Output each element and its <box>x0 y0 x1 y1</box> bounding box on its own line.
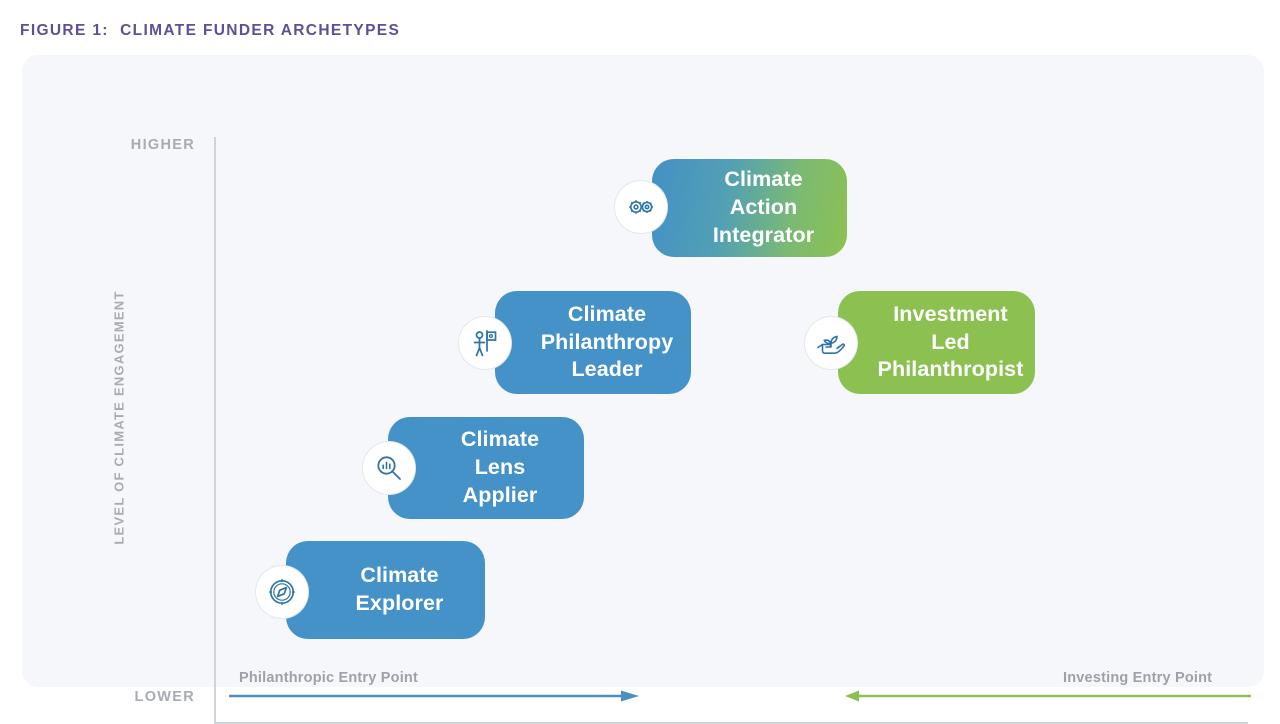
archetype-label: Climate Lens Applier <box>461 426 539 509</box>
archetype-card-investment-led-philanthropist[interactable]: Investment Led Philanthropist <box>838 291 1035 394</box>
philanthropic-entry-label: Philanthropic Entry Point <box>239 670 418 686</box>
person-with-flag-icon <box>459 317 511 369</box>
archetype-card-climate-lens-applier[interactable]: Climate Lens Applier <box>388 417 584 519</box>
y-axis-low-label: LOWER <box>75 689 195 705</box>
archetype-label: Investment Led Philanthropist <box>878 301 1024 384</box>
figure-panel: HIGHER LOWER LEVEL OF CLIMATE ENGAGEMENT… <box>22 55 1264 687</box>
arrow-right-icon <box>229 689 639 707</box>
archetype-label: Climate Action Integrator <box>698 166 829 249</box>
compass-icon <box>256 566 308 618</box>
archetype-card-climate-explorer[interactable]: Climate Explorer <box>286 541 485 639</box>
investing-entry-label: Investing Entry Point <box>1063 670 1212 686</box>
gears-icon <box>615 181 667 233</box>
y-axis-line <box>214 137 216 724</box>
arrow-left-icon <box>845 689 1251 707</box>
magnifier-chart-icon <box>363 442 415 494</box>
archetype-label: Climate Explorer <box>355 562 443 617</box>
hand-with-sprout-icon <box>805 317 857 369</box>
archetype-card-climate-philanthropy-leader[interactable]: Climate Philanthropy Leader <box>495 291 691 394</box>
figure-title: FIGURE 1: CLIMATE FUNDER ARCHETYPES <box>20 22 400 40</box>
y-axis-title: LEVEL OF CLIMATE ENGAGEMENT <box>112 268 127 568</box>
archetype-label: Climate Philanthropy Leader <box>541 301 674 384</box>
y-axis-high-label: HIGHER <box>75 137 195 153</box>
archetype-card-climate-action-integrator[interactable]: Climate Action Integrator <box>652 159 847 257</box>
